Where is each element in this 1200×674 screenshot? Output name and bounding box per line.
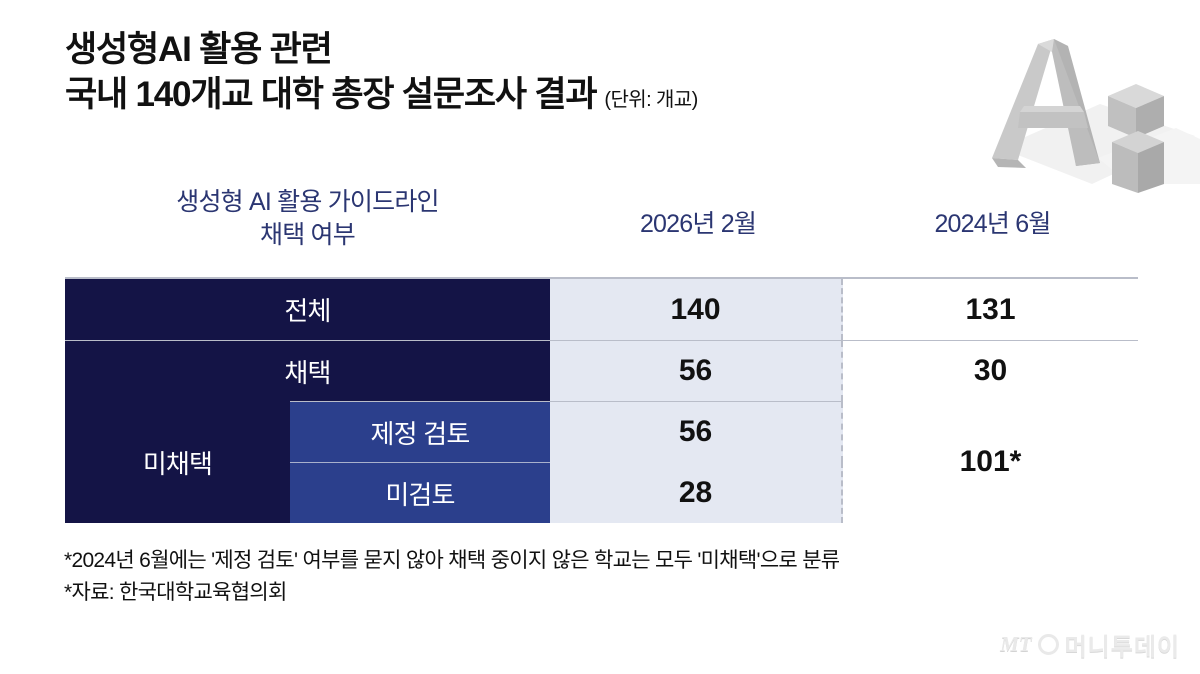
column-header-label-line1: 생성형 AI 활용 가이드라인 [65,186,550,219]
unit-note: (단위: 개교) [596,89,697,111]
table-row: 채택 56 30 [65,340,1138,401]
ai-3d-isometric-icon [980,8,1200,193]
row-group-label-not-adopted: 미채택 [65,401,290,523]
row-label-adopted: 채택 [65,341,550,401]
footnote-methodology: *2024년 6월에는 '제정 검토' 여부를 묻지 않아 채택 중이지 않은 … [64,545,1144,577]
column-header-label: 생성형 AI 활용 가이드라인 채택 여부 [65,186,550,252]
title-line-1: 생성형AI 활용 관련 [65,28,965,73]
data-table: 전체 140 131 채택 56 30 제정 검토 56 미검토 28 미채택 … [65,277,1138,521]
column-header-label-line2: 채택 여부 [65,219,550,252]
title-line-2-text: 국내 140개교 대학 총장 설문조사 결과 [65,75,596,114]
cell-total-2026: 140 [550,279,843,340]
column-header-2024-06: 2024년 6월 [847,208,1138,241]
title-line-2: 국내 140개교 대학 총장 설문조사 결과(단위: 개교) [65,73,965,118]
logo-mt-mark: MT [1000,632,1032,657]
column-header-2026-02: 2026년 2월 [552,208,844,241]
table-row: 전체 140 131 [65,279,1138,340]
row-sublabel-reviewing: 제정 검토 [290,402,550,462]
footnotes: *2024년 6월에는 '제정 검토' 여부를 묻지 않아 채택 중이지 않은 … [64,545,1144,608]
row-label-total: 전체 [65,279,550,340]
cell-not-reviewing-2026: 28 [550,462,843,523]
logo-name: 머니투데이 [1065,627,1180,662]
footnote-source: *자료: 한국대학교육협의회 [64,577,1144,609]
cell-not-adopted-2024: 101* [843,401,1138,523]
row-sublabel-not-reviewing: 미검토 [290,462,550,523]
cell-adopted-2026: 56 [550,341,843,401]
page-title: 생성형AI 활용 관련 국내 140개교 대학 총장 설문조사 결과(단위: 개… [65,28,965,118]
cell-reviewing-2026: 56 [550,402,843,462]
cell-adopted-2024: 30 [843,341,1138,401]
logo-ring-icon [1038,634,1059,655]
cell-total-2024: 131 [843,279,1138,340]
publisher-logo: MT 머니투데이 [1000,627,1180,662]
table-column-headers: 생성형 AI 활용 가이드라인 채택 여부 2026년 2월 2024년 6월 [65,186,1138,268]
infographic-page: 생성형AI 활용 관련 국내 140개교 대학 총장 설문조사 결과(단위: 개… [0,0,1200,674]
